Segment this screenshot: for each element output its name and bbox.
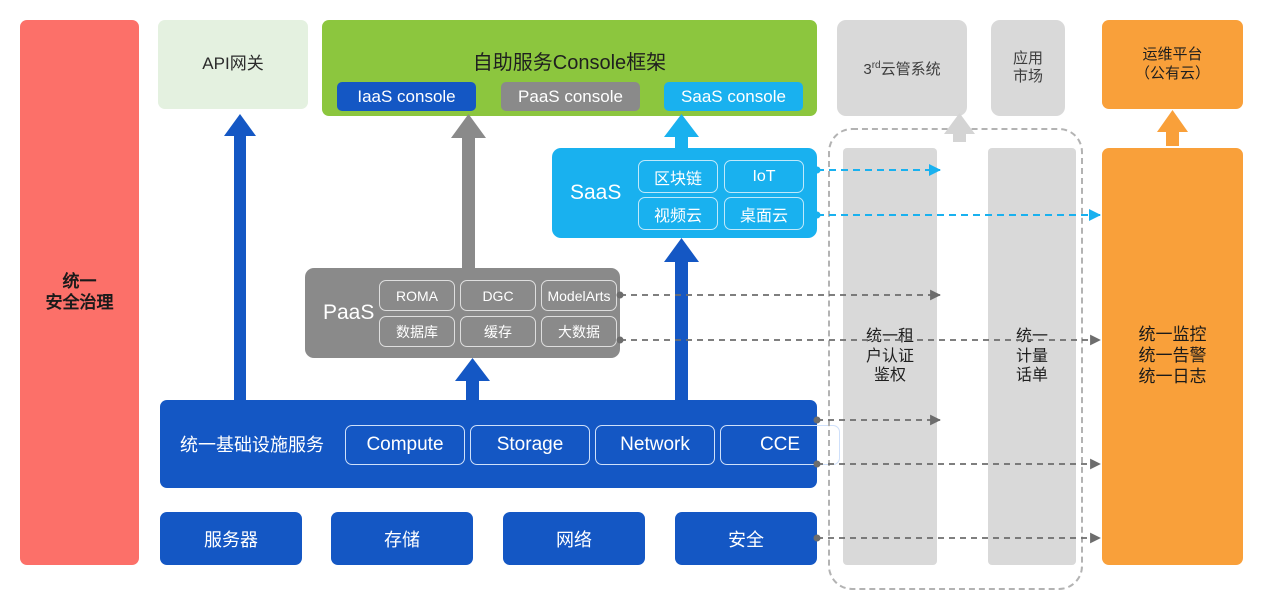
cross-column-tenant-auth: 统一租 户认证 鉴权	[843, 148, 937, 565]
ops-monitoring-panel-label: 统一监控 统一告警 统一日志	[1139, 325, 1207, 387]
arrow-infra-to-paas	[455, 358, 490, 402]
paas-chip-roma[interactable]: ROMA	[379, 280, 455, 311]
saas-console-chip[interactable]: SaaS console	[664, 82, 803, 111]
saas-chip-desktop-cloud[interactable]: 桌面云	[724, 197, 804, 230]
paas-chip-cache-label: 缓存	[484, 322, 512, 342]
arrow-infra-to-saas	[664, 238, 699, 400]
arrow-saas-to-saas-console	[664, 114, 699, 150]
iaas-console-chip[interactable]: IaaS console	[337, 82, 476, 111]
arrow-infra-to-api-gateway	[224, 114, 256, 400]
cross-column-metering-billing-label: 统一 计量 话单	[1016, 327, 1048, 386]
ops-platform-top-label: 运维平台 （公有云）	[1135, 46, 1210, 83]
third-party-cloud-mgmt-box: 3rd云管系统	[837, 20, 967, 116]
paas-chip-dgc-label: DGC	[482, 288, 513, 304]
infra-chip-storage[interactable]: Storage	[470, 425, 590, 465]
saas-chip-blockchain[interactable]: 区块链	[638, 160, 718, 193]
app-market-box: 应用 市场	[991, 20, 1065, 116]
paas-chip-roma-label: ROMA	[396, 288, 438, 304]
saas-chip-iot[interactable]: IoT	[724, 160, 804, 193]
resource-box-server-label: 服务器	[204, 526, 258, 552]
resource-box-network-label: 网络	[556, 526, 592, 552]
resource-box-storage[interactable]: 存储	[331, 512, 473, 565]
unified-infrastructure-title: 统一基础设施服务	[180, 431, 324, 457]
infra-chip-storage-label: Storage	[497, 434, 564, 456]
paas-chip-bigdata[interactable]: 大数据	[541, 316, 617, 347]
saas-chip-video-cloud-label: 视频云	[654, 202, 702, 226]
resource-box-storage-label: 存储	[384, 526, 420, 552]
architecture-diagram: 统一 安全治理 API网关 自助服务Console框架 IaaS console…	[0, 0, 1265, 605]
saas-chip-video-cloud[interactable]: 视频云	[638, 197, 718, 230]
arrow-ops-panel-to-ops-platform	[1157, 110, 1188, 146]
paas-chip-dgc[interactable]: DGC	[460, 280, 536, 311]
saas-block: SaaS 区块链 IoT 视频云 桌面云	[552, 148, 817, 238]
paas-chip-modelarts-label: ModelArts	[547, 288, 610, 304]
saas-title: SaaS	[570, 181, 621, 205]
console-framework-box: 自助服务Console框架 IaaS console PaaS console …	[322, 20, 817, 116]
console-framework-title: 自助服务Console框架	[322, 46, 817, 75]
paas-chip-bigdata-label: 大数据	[558, 322, 600, 342]
resource-box-network[interactable]: 网络	[503, 512, 645, 565]
infra-chip-network[interactable]: Network	[595, 425, 715, 465]
paas-console-chip[interactable]: PaaS console	[501, 82, 640, 111]
resource-box-security-label: 安全	[728, 526, 764, 552]
unified-infrastructure-bar: 统一基础设施服务 Compute Storage Network CCE	[160, 400, 817, 488]
infra-chip-compute-label: Compute	[366, 434, 443, 456]
resource-box-server[interactable]: 服务器	[160, 512, 302, 565]
paas-block: PaaS ROMA DGC ModelArts 数据库 缓存 大数据	[305, 268, 620, 358]
infra-chip-cce-label: CCE	[760, 434, 800, 456]
infra-chip-compute[interactable]: Compute	[345, 425, 465, 465]
paas-chip-database[interactable]: 数据库	[379, 316, 455, 347]
ops-monitoring-panel: 统一监控 统一告警 统一日志	[1102, 148, 1243, 565]
saas-console-label: SaaS console	[681, 87, 786, 107]
api-gateway-label: API网关	[202, 54, 263, 75]
api-gateway-box: API网关	[158, 20, 308, 109]
security-governance-label: 统一 安全治理	[46, 272, 114, 313]
iaas-console-label: IaaS console	[357, 87, 455, 107]
resource-box-security[interactable]: 安全	[675, 512, 817, 565]
paas-chip-modelarts[interactable]: ModelArts	[541, 280, 617, 311]
saas-chip-blockchain-label: 区块链	[654, 165, 702, 189]
saas-chip-iot-label: IoT	[752, 168, 775, 186]
ops-platform-top-box: 运维平台 （公有云）	[1102, 20, 1243, 109]
cross-column-metering-billing: 统一 计量 话单	[988, 148, 1076, 565]
cross-column-tenant-auth-label: 统一租 户认证 鉴权	[866, 327, 914, 386]
security-governance-panel: 统一 安全治理	[20, 20, 139, 565]
infra-chip-network-label: Network	[620, 434, 690, 456]
paas-chip-cache[interactable]: 缓存	[460, 316, 536, 347]
app-market-label: 应用 市场	[1013, 50, 1043, 87]
third-party-cloud-mgmt-label: 3rd云管系统	[863, 58, 940, 79]
paas-console-label: PaaS console	[518, 87, 623, 107]
infra-chip-cce[interactable]: CCE	[720, 425, 840, 465]
paas-chip-database-label: 数据库	[396, 322, 438, 342]
paas-title: PaaS	[323, 301, 374, 325]
arrow-paas-to-console	[451, 114, 486, 268]
saas-chip-desktop-cloud-label: 桌面云	[740, 202, 788, 226]
